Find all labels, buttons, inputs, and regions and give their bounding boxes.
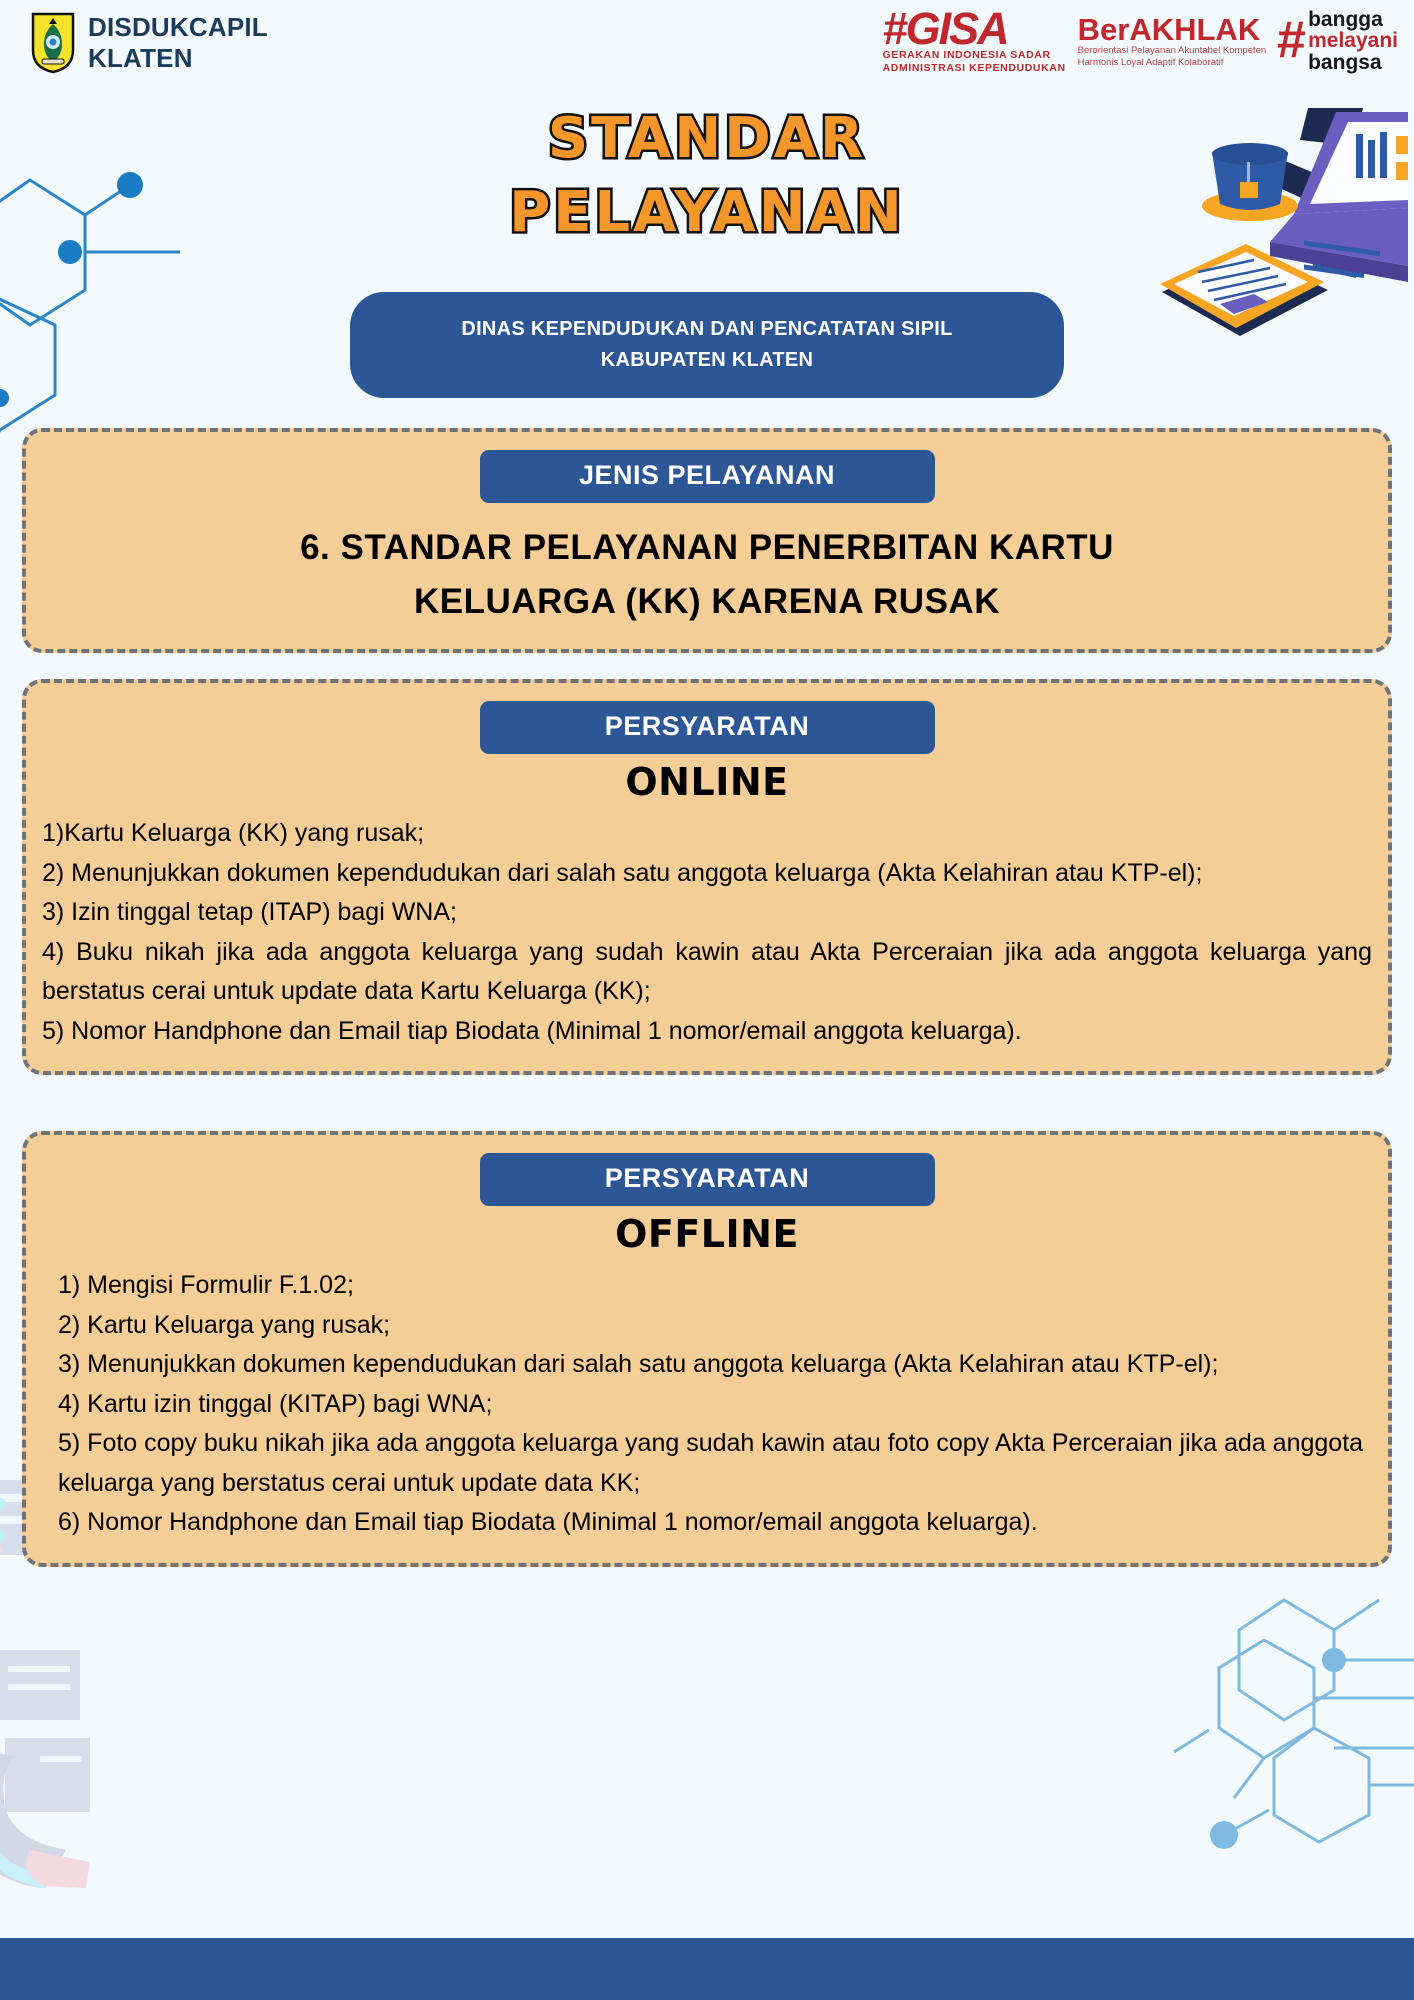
bangga-words: bangga melayani bangsa (1308, 9, 1398, 73)
berakhlak-logo: BerAKHLAK Berorientasi Pelayanan Akuntab… (1078, 14, 1267, 69)
persyaratan-offline-badge: PERSYARATAN (480, 1153, 935, 1206)
gisa-logo: #GISA GERAKAN INDONESIA SADAR ADMINISTRA… (883, 8, 1066, 74)
jenis-pelayanan-title-line-2: KELUARGA (KK) KARENA RUSAK (42, 575, 1372, 629)
persyaratan-offline-heading: OFFLINE (42, 1212, 1372, 1256)
list-item: 6) Nomor Handphone dan Email tiap Biodat… (58, 1503, 1372, 1543)
persyaratan-offline-list: 1) Mengisi Formulir F.1.02; 2) Kartu Kel… (42, 1266, 1372, 1543)
campaign-logos: #GISA GERAKAN INDONESIA SADAR ADMINISTRA… (883, 8, 1398, 74)
persyaratan-online-badge: PERSYARATAN (480, 701, 935, 754)
jenis-pelayanan-badge: JENIS PELAYANAN (480, 450, 935, 503)
persyaratan-online-panel: PERSYARATAN ONLINE 1)Kartu Keluarga (KK)… (22, 679, 1392, 1075)
bangga-word-1: bangga (1308, 9, 1398, 30)
bangga-word-2: melayani (1308, 30, 1398, 51)
gisa-wordmark: #GISA (883, 8, 1008, 49)
office-name-banner: DINAS KEPENDUDUKAN DAN PENCATATAN SIPIL … (350, 292, 1064, 398)
page-title: STANDAR PELAYANAN (0, 102, 1414, 250)
list-item: 2) Kartu Keluarga yang rusak; (58, 1306, 1372, 1346)
bangga-word-3: bangsa (1308, 52, 1398, 73)
list-item: 1) Mengisi Formulir F.1.02; (58, 1266, 1372, 1306)
berakhlak-wordmark: BerAKHLAK (1078, 14, 1261, 45)
list-item: 2) Menunjukkan dokumen kependudukan dari… (42, 854, 1372, 894)
brand-lockup: DISDUKCAPIL KLATEN (30, 12, 268, 74)
list-item: 5) Foto copy buku nikah jika ada anggota… (58, 1424, 1372, 1503)
list-item: 1)Kartu Keluarga (KK) yang rusak; (42, 814, 1372, 854)
brand-line-1: DISDUKCAPIL (88, 12, 268, 43)
office-line-1: DINAS KEPENDUDUKAN DAN PENCATATAN SIPIL (370, 314, 1044, 345)
footer-bar (0, 1938, 1414, 2000)
jenis-pelayanan-title: 6. STANDAR PELAYANAN PENERBITAN KARTU KE… (42, 521, 1372, 630)
hash-icon: # (1276, 20, 1305, 62)
persyaratan-online-heading: ONLINE (42, 760, 1372, 804)
list-item: 4) Kartu izin tinggal (KITAP) bagi WNA; (58, 1385, 1372, 1425)
brand-text: DISDUKCAPIL KLATEN (88, 12, 268, 73)
berakhlak-tagline-line-2: Harmonis Loyal Adaptif Kolaboratif (1078, 57, 1224, 69)
office-line-2: KABUPATEN KLATEN (370, 345, 1044, 376)
gisa-tagline-line-2: ADMINISTRASI KEPENDUDUKAN (883, 62, 1066, 74)
list-item: 3) Menunjukkan dokumen kependudukan dari… (58, 1345, 1372, 1385)
persyaratan-offline-panel: PERSYARATAN OFFLINE 1) Mengisi Formulir … (22, 1131, 1392, 1567)
jenis-pelayanan-panel: JENIS PELAYANAN 6. STANDAR PELAYANAN PEN… (22, 428, 1392, 654)
page-title-line-1: STANDAR (0, 102, 1414, 176)
poster-header: DISDUKCAPIL KLATEN #GISA GERAKAN INDONES… (0, 0, 1414, 96)
berakhlak-tagline-line-1: Berorientasi Pelayanan Akuntabel Kompete… (1078, 45, 1267, 57)
persyaratan-online-list: 1)Kartu Keluarga (KK) yang rusak; 2) Men… (42, 814, 1372, 1051)
list-item: 5) Nomor Handphone dan Email tiap Biodat… (42, 1012, 1372, 1052)
list-item: 3) Izin tinggal tetap (ITAP) bagi WNA; (42, 893, 1372, 933)
list-item: 4) Buku nikah jika ada anggota keluarga … (42, 933, 1372, 1012)
jenis-pelayanan-title-line-1: 6. STANDAR PELAYANAN PENERBITAN KARTU (42, 521, 1372, 575)
gisa-tagline-line-1: GERAKAN INDONESIA SADAR (883, 49, 1051, 61)
klaten-coat-of-arms-icon (30, 12, 76, 74)
bangga-melayani-bangsa-logo: # bangga melayani bangsa (1276, 9, 1398, 73)
brand-line-2: KLATEN (88, 43, 268, 74)
page-title-line-2: PELAYANAN (0, 176, 1414, 250)
